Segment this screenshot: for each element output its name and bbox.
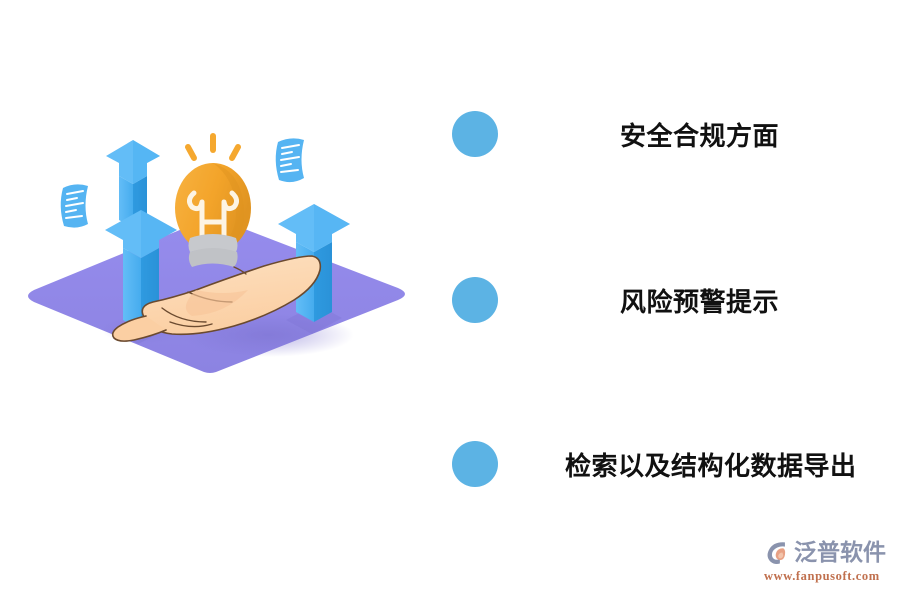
brand-name: 泛普软件 [794,539,886,566]
list-item[interactable]: 检索以及结构化数据导出 [440,434,880,494]
list-item[interactable]: 风险预警提示 [440,270,880,330]
list-item-label: 风险预警提示 [620,282,779,319]
slide-canvas: 安全合规方面 风险预警提示 检索以及结构化数据导出 泛普软件 [0,0,900,600]
hand-holding-lightbulb-illustration [20,130,420,420]
paper-sheet-left-icon [61,184,88,227]
bullet-marker-1 [440,270,510,330]
bullet-dot-icon [452,111,498,157]
bullet-marker-0 [440,104,510,164]
lightbulb-rays-icon [188,136,238,158]
brand-url: www.fanpusoft.com [764,569,880,584]
brand-watermark: 泛普软件 www.fanpusoft.com [763,532,889,588]
fanpu-logo-mark-icon [763,539,790,566]
paper-sheet-right-icon [276,138,304,182]
bullet-marker-2 [440,434,510,494]
list-item[interactable]: 安全合规方面 [440,104,880,164]
bullet-dot-icon [452,441,498,487]
feature-bullet-list: 安全合规方面 风险预警提示 检索以及结构化数据导出 [440,95,880,515]
list-item-label: 安全合规方面 [620,116,779,153]
bullet-dot-icon [452,277,498,323]
brand-logo-row: 泛普软件 [763,536,886,568]
list-item-label: 检索以及结构化数据导出 [565,446,857,483]
